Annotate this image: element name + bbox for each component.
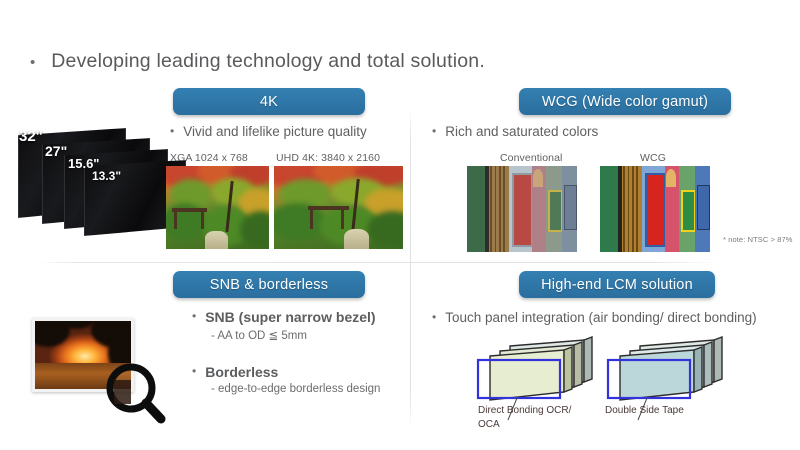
caption-xga: XGA 1024 x 768 [170,152,248,164]
horizontal-divider [38,262,718,263]
bullet-dot-icon: • [432,124,436,139]
bullet-4k: • Vivid and lifelike picture quality [170,124,367,139]
bullet-wcg: • Rich and saturated colors [432,124,598,139]
snb-item-1: • Borderless [192,364,407,380]
snb-heading-0: SNB (super narrow bezel) [205,309,375,325]
snb-item-0: • SNB (super narrow bezel) [192,309,407,325]
vertical-divider [410,108,411,430]
display-size-stack: 32" 27" 15.6" 13.3" [8,118,160,238]
wcg-color-sample [600,166,710,252]
caption-uhd: UHD 4K: 3840 x 2160 [276,152,380,164]
section-header-lcm[interactable]: High-end LCM solution [519,271,715,298]
caption-conventional: Conventional [500,152,563,164]
tv-size-label-27: 27" [45,143,67,159]
page-title: • Developing leading technology and tota… [30,50,485,73]
snb-feature-list: • SNB (super narrow bezel) - AA to OD ≦ … [192,309,407,395]
bullet-wcg-text: Rich and saturated colors [445,124,598,139]
snb-detail-1: - edge-to-edge borderless design [211,383,407,395]
section-header-snb[interactable]: SNB & borderless [173,271,365,298]
bullet-dot-icon: • [170,124,174,139]
headline-bullet-icon: • [30,55,35,70]
bullet-dot-icon: • [192,364,196,380]
magnifier-icon [104,362,166,424]
snb-heading-1: Borderless [205,364,278,380]
ntsc-note: * note: NTSC > 87% [723,235,793,244]
slide-canvas: • Developing leading technology and tota… [0,0,800,450]
bullet-dot-icon: • [432,310,436,325]
label-direct-bonding: Direct Bonding OCR/ OCA [478,404,588,431]
headline-text: Developing leading technology and total … [51,50,485,73]
label-double-side-tape: Double Side Tape [605,404,715,418]
section-header-wcg[interactable]: WCG (Wide color gamut) [519,88,731,115]
caption-wcg: WCG [640,152,666,164]
xga-sample-photo [166,166,269,249]
tv-size-label-133: 13.3" [92,169,121,183]
tv-size-label-32: 32" [19,128,43,145]
bullet-lcm: • Touch panel integration (air bonding/ … [432,310,757,325]
bullet-4k-text: Vivid and lifelike picture quality [183,124,367,139]
section-header-4k[interactable]: 4K [173,88,365,115]
bullet-lcm-text: Touch panel integration (air bonding/ di… [445,310,756,325]
snb-detail-0: - AA to OD ≦ 5mm [211,328,407,342]
bullet-dot-icon: • [192,309,196,325]
conventional-color-sample [467,166,577,252]
uhd-sample-photo [274,166,403,249]
lcm-diagrams: Direct Bonding OCR/ OCA Double Side Tape [460,332,790,444]
